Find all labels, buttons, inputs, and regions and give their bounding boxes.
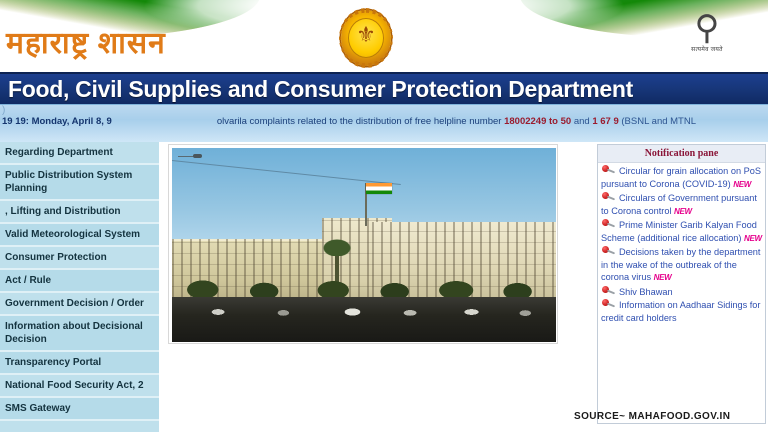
new-badge: NEW [744, 234, 762, 243]
sidebar-item-information-about-decisional-decision[interactable]: Information about Decisional Decision [0, 316, 159, 352]
ticker-message-suffix: (BSNL and MTNL [619, 116, 696, 127]
notification-item[interactable]: Circulars of Government pursuant to Coro… [601, 192, 762, 218]
left-navigation-sidebar: Regarding Department Public Distribution… [0, 142, 160, 432]
sidebar-item-label: Act / Rule [5, 275, 51, 286]
ashoka-lion-capital-emblem-icon: ⚲ सत्यमेव जयते [683, 8, 731, 66]
pushpin-icon [601, 286, 615, 297]
sidebar-item-label: National Food Security Act, 2 [5, 380, 144, 391]
notification-pane-title: Notification pane [598, 145, 765, 163]
page-body: Regarding Department Public Distribution… [0, 142, 768, 432]
sidebar-item-regarding-department[interactable]: Regarding Department [0, 142, 159, 165]
notification-text: Prime Minister Garib Kalyan Food Scheme … [601, 220, 757, 243]
notification-item[interactable]: Prime Minister Garib Kalyan Food Scheme … [601, 219, 762, 245]
sidebar-item-label: Regarding Department [5, 147, 113, 158]
page-title: Food, Civil Supplies and Consumer Protec… [0, 76, 633, 103]
sidebar-item-act-rule[interactable]: Act / Rule [0, 270, 159, 293]
ticker-helpline-1: 18002249 to 50 [504, 116, 571, 127]
parked-vehicles [172, 303, 556, 320]
sidebar-item-public-distribution-system-planning[interactable]: Public Distribution System Planning [0, 165, 159, 201]
notification-text: Shiv Bhawan [619, 287, 673, 297]
news-ticker-strip: ) 19 19: Monday, April 8, 9 olvarila com… [0, 104, 768, 142]
indian-tricolor-flag-icon [366, 183, 392, 194]
pushpin-icon [601, 165, 615, 176]
sidebar-item-government-decision-order[interactable]: Government Decision / Order [0, 293, 159, 316]
sidebar-item-consumer-protection[interactable]: Consumer Protection [0, 247, 159, 270]
notification-pane: Notification pane Circular for grain all… [597, 144, 766, 424]
pushpin-icon [601, 219, 615, 230]
department-title-bar: Food, Civil Supplies and Consumer Protec… [0, 72, 768, 104]
new-badge: NEW [733, 180, 751, 189]
ticker-conjunction: and [571, 116, 592, 127]
notification-text: Decisions taken by the department in the… [601, 247, 760, 282]
sidebar-item-sms-gateway[interactable]: SMS Gateway [0, 398, 159, 421]
notification-item[interactable]: Shiv Bhawan [601, 286, 762, 299]
pushpin-icon [601, 192, 615, 203]
new-badge: NEW [654, 273, 672, 282]
ticker-date: 19 19: Monday, April 8, 9 [0, 116, 112, 127]
ticker-message-prefix: olvarila complaints related to the distr… [217, 116, 504, 127]
pushpin-icon [601, 299, 615, 310]
sidebar-item-label: Consumer Protection [5, 252, 107, 263]
mantralaya-building-photo [172, 148, 556, 342]
notification-item[interactable]: Decisions taken by the department in the… [601, 246, 762, 285]
source-watermark: SOURCE~ MAHAFOOD.GOV.IN [574, 411, 730, 422]
notification-text: Information on Aadhaar Sidings for credi… [601, 300, 760, 323]
street-lamp-icon [178, 156, 200, 158]
sidebar-item-label: Valid Meteorological System [5, 229, 140, 240]
pushpin-icon [601, 246, 615, 257]
marathi-government-title: महाराष्ट्र शासन [6, 21, 166, 62]
site-banner: महाराष्ट्र शासन ⚜ ⚲ सत्यमेव जयते [0, 0, 768, 72]
sidebar-item-national-food-security-act[interactable]: National Food Security Act, 2 [0, 375, 159, 398]
new-badge: NEW [674, 207, 692, 216]
sidebar-item-transparency-portal[interactable]: Transparency Portal [0, 352, 159, 375]
notification-item[interactable]: Circular for grain allocation on PoS pur… [601, 165, 762, 191]
sidebar-item-lifting-and-distribution[interactable]: , Lifting and Distribution [0, 201, 159, 224]
ticker-message[interactable]: olvarila complaints related to the distr… [217, 116, 696, 127]
sidebar-item-label: Public Distribution System Planning [5, 170, 132, 194]
notification-item[interactable]: Information on Aadhaar Sidings for credi… [601, 299, 762, 324]
tree-line [172, 268, 556, 299]
sidebar-item-label: , Lifting and Distribution [5, 206, 121, 217]
webpage-screenshot: महाराष्ट्र शासन ⚜ ⚲ सत्यमेव जयते Food, C… [0, 0, 768, 432]
sidebar-item-label: SMS Gateway [5, 403, 71, 414]
page-curl-icon: ) [2, 105, 5, 116]
sidebar-item-label: Information about Decisional Decision [5, 321, 143, 345]
ticker-helpline-2: 1 67 9 [592, 116, 618, 127]
hero-photo-panel [168, 144, 558, 344]
notification-list: Circular for grain allocation on PoS pur… [598, 163, 765, 423]
sidebar-item-valid-meteorological-system[interactable]: Valid Meteorological System [0, 224, 159, 247]
maharashtra-government-emblem-icon: ⚜ [341, 10, 391, 66]
sidebar-item-label: Transparency Portal [5, 357, 101, 368]
sidebar-item-label: Government Decision / Order [5, 298, 144, 309]
